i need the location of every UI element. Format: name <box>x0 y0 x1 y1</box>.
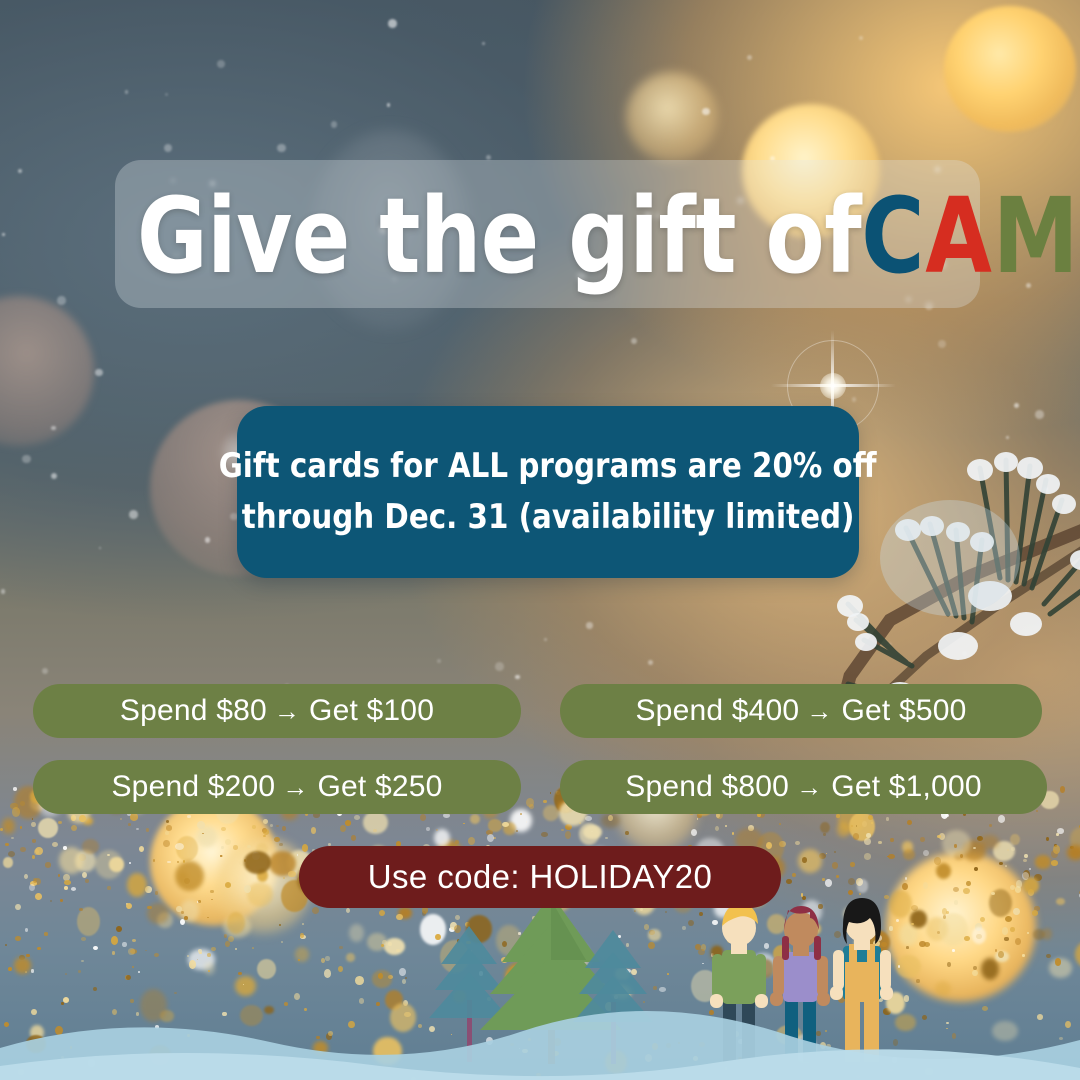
offer-pill-group: Spend $80 → Get $100 Spend $200 → Get $2… <box>0 684 1080 814</box>
bokeh-light-1 <box>944 6 1076 132</box>
offer-pill-spend-80[interactable]: Spend $80 → Get $100 <box>33 684 521 738</box>
brand-letter-m: M <box>993 175 1080 297</box>
brand-letter-a: A <box>925 175 993 297</box>
promo-code-label: Use code: HOLIDAY20 <box>368 858 712 896</box>
page-title: Give the gift of CAMP <box>137 176 901 296</box>
arrow-right-icon: → <box>267 696 309 727</box>
offer-spend-label: Spend $800 <box>625 770 789 804</box>
promotional-poster: Give the gift of CAMP Gift cards for ALL… <box>0 0 1080 1080</box>
bottom-illustration <box>0 890 1080 1080</box>
brand-letter-c: C <box>861 175 925 297</box>
offer-spend-label: Spend $80 <box>120 694 267 728</box>
promo-code-button[interactable]: Use code: HOLIDAY20 <box>299 846 781 908</box>
offer-get-label: Get $250 <box>318 770 443 804</box>
promo-message-line-2: through Dec. 31 (availability limited) <box>242 499 855 536</box>
bokeh-light-3 <box>626 72 718 162</box>
offer-get-label: Get $1,000 <box>831 770 981 804</box>
arrow-right-icon: → <box>799 696 841 727</box>
offer-get-label: Get $500 <box>842 694 967 728</box>
child-blackhair-overalls <box>830 898 893 1062</box>
promo-message-box: Gift cards for ALL programs are 20% off … <box>237 406 859 578</box>
headline-prefix: Give the gift of <box>137 184 861 288</box>
headline-brand-word: CAMP <box>861 184 1080 288</box>
promo-message-line-1: Gift cards for ALL programs are 20% off <box>219 448 877 485</box>
arrow-right-icon: → <box>275 772 317 803</box>
offer-pill-spend-800[interactable]: Spend $800 → Get $1,000 <box>560 760 1047 814</box>
offer-spend-label: Spend $400 <box>635 694 799 728</box>
offer-spend-label: Spend $200 <box>111 770 275 804</box>
offer-pill-spend-400[interactable]: Spend $400 → Get $500 <box>560 684 1042 738</box>
arrow-right-icon: → <box>789 772 831 803</box>
offer-get-label: Get $100 <box>309 694 434 728</box>
offer-pill-spend-200[interactable]: Spend $200 → Get $250 <box>33 760 521 814</box>
